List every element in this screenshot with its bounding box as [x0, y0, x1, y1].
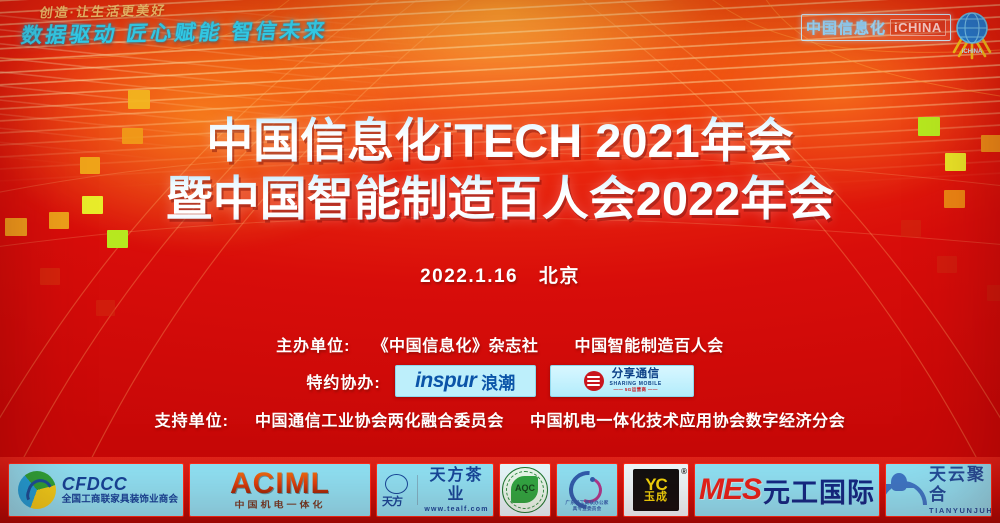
page-title: 中国信息化iTECH 2021年会 暨中国智能制造百人会2022年会 — [0, 116, 1000, 224]
tianfang-mark-icon: 天方 — [381, 473, 411, 507]
title-line-2: 暨中国智能制造百人会2022年会 — [0, 174, 1000, 224]
decor-square — [96, 300, 115, 316]
tianfang-url: www.tealf.com — [424, 506, 489, 514]
decor-square — [107, 230, 128, 248]
conference-banner: 创造·让生活更美好 数据驱动 匠心赋能 智信未来 中国信息化 iCHINA iC… — [0, 0, 1000, 523]
host-org-2: 中国智能制造百人会 — [574, 332, 723, 356]
sponsor-logo-aqc: AQC — [499, 463, 551, 517]
support-org-2: 中国机电一体化技术应用协会数字经济分会 — [530, 407, 845, 431]
inspur-logo: inspur 浪潮 — [395, 365, 536, 397]
aqc-seal-icon: AQC — [502, 467, 548, 513]
tianyunjuhe-name-cn: 天云聚合 — [929, 465, 992, 506]
sharing-mobile-name-cn: 分享通信 — [610, 369, 662, 381]
host-org-1: 《中国信息化》杂志社 — [372, 332, 538, 356]
yucheng-name-cn: 玉成 — [644, 493, 668, 503]
sponsor-logo-mes-yuangong: MES 元工国际 — [694, 463, 880, 517]
aciml-name-cn: 中国机电一体化 — [235, 497, 326, 510]
tianyunjuhe-mark-icon — [885, 473, 921, 507]
cohost-label: 特约协办: — [306, 369, 380, 393]
yucheng-mark-icon: YC 玉成 ® — [633, 469, 679, 511]
cohost-row: 特约协办: inspur 浪潮 分享通信 SHARING MOBILE —— 5… — [0, 365, 1000, 397]
divider — [417, 475, 418, 505]
brand-name-cn: 中国信息化 — [806, 17, 886, 38]
cfdcc-name-en: CFDCC — [62, 474, 178, 495]
sponsor-logo-cfdcc: CFDCC 全国工商联家具装饰业商会 — [8, 463, 184, 517]
event-datetime: 2022.1.16 北京 — [0, 261, 1000, 288]
registered-mark-icon: ® — [681, 467, 687, 476]
cfdcc-name-cn: 全国工商联家具装饰业商会 — [62, 495, 178, 506]
yucheng-name-en: YC — [645, 477, 667, 492]
cfdcc-mark-icon — [18, 471, 56, 509]
mes-name-en: MES — [699, 473, 761, 507]
inspur-wordmark: inspur — [415, 369, 476, 393]
sharing-mobile-tagline: —— 5G运营商 —— — [610, 388, 662, 393]
aqc-label: AQC — [503, 483, 547, 493]
decor-square — [128, 90, 150, 109]
sponsor-logo-yucheng: YC 玉成 ® — [623, 463, 689, 517]
aciml-name-en: ACIML — [230, 469, 330, 499]
title-line-1: 中国信息化iTECH 2021年会 — [0, 116, 1000, 166]
host-row: 主办单位: 《中国信息化》杂志社 中国智能制造百人会 — [0, 332, 1000, 356]
event-date: 2022.1.16 — [420, 266, 518, 287]
sponsor-logo-tianfang-tea: 天方 天方茶业 www.tealf.com — [376, 463, 494, 517]
brand-logo: 中国信息化 iCHINA — [801, 14, 951, 41]
sponsor-logo-aciml: ACIML 中国机电一体化 — [189, 463, 371, 517]
sharing-mobile-mark-icon — [584, 371, 604, 391]
tianfang-mark-label: 天方 — [382, 493, 402, 509]
ci-name-cn: 广东省工商联办公家具专业委员会 — [564, 500, 610, 512]
support-row: 支持单位: 中国通信工业协会两化融合委员会 中国机电一体化技术应用协会数字经济分… — [0, 407, 1000, 431]
host-label: 主办单位: — [276, 332, 350, 356]
sponsor-strip: CFDCC 全国工商联家具装饰业商会 ACIML 中国机电一体化 天方 天方茶业… — [0, 457, 1000, 523]
globe-icon: iCHINA — [952, 6, 992, 62]
sharing-mobile-text: 分享通信 SHARING MOBILE —— 5G运营商 —— — [610, 369, 662, 393]
sponsor-logo-ci: 广东省工商联办公家具专业委员会 — [556, 463, 618, 517]
sponsor-logo-tianyunjuhe: 天云聚合 TIANYUNJUHE — [885, 463, 992, 517]
tianfang-name-cn: 天方茶业 — [424, 466, 489, 504]
sharing-mobile-logo: 分享通信 SHARING MOBILE —— 5G运营商 —— — [550, 365, 694, 397]
support-label: 支持单位: — [155, 407, 229, 431]
svg-text:iCHINA: iCHINA — [962, 49, 983, 55]
event-city: 北京 — [539, 266, 580, 287]
mes-name-cn: 元工国际 — [763, 471, 875, 510]
slogan-primary: 数据驱动 匠心赋能 智信未来 — [19, 14, 330, 49]
ci-swirl-icon: 广东省工商联办公家具专业委员会 — [564, 468, 610, 512]
inspur-name-cn: 浪潮 — [481, 369, 515, 394]
tianyunjuhe-name-en: TIANYUNJUHE — [929, 506, 992, 515]
credits-block: 主办单位: 《中国信息化》杂志社 中国智能制造百人会 特约协办: inspur … — [0, 332, 1000, 431]
support-org-1: 中国通信工业协会两化融合委员会 — [255, 407, 504, 431]
brand-name-en: iCHINA — [890, 19, 946, 36]
